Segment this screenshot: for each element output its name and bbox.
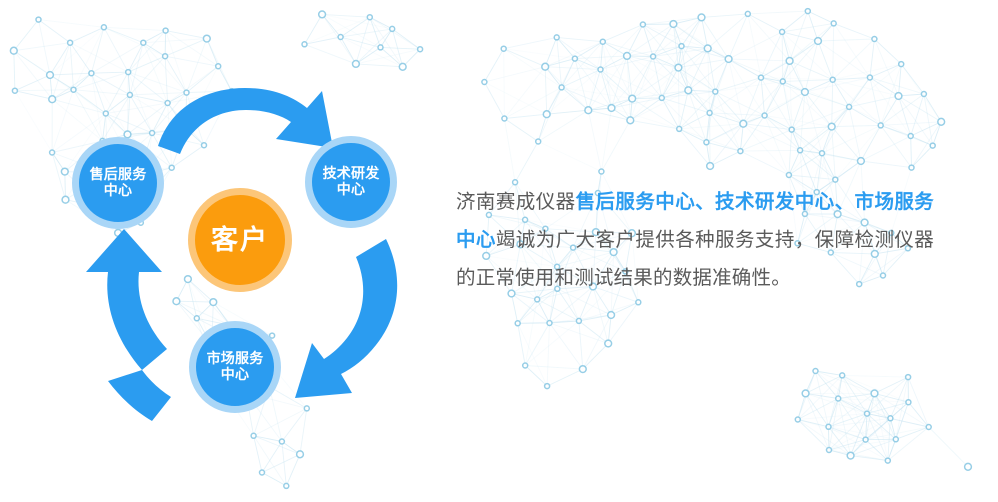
- node-rnd-label-line2: 中心: [337, 182, 365, 198]
- node-market-label-line1: 市场服务: [207, 351, 264, 367]
- node-market-center[interactable]: 市场服务 中心: [189, 321, 281, 413]
- node-after-sales-label-line2: 中心: [104, 183, 132, 199]
- node-customer-label: 客户: [211, 225, 269, 256]
- copy-segment-2: 竭诚为广大客户提供各种服务支持，保障检测仪器的正常使用和测试结果的数据准确性。: [456, 229, 934, 289]
- node-after-sales-center[interactable]: 售后服务 中心: [72, 137, 164, 229]
- node-after-sales-label-line1: 售后服务: [90, 167, 147, 183]
- node-rnd-center[interactable]: 技术研发 中心: [305, 136, 397, 228]
- banner-stage: 售后服务 中心 技术研发 中心 市场服务 中心 客户 济南赛成仪器售后服务中心、…: [0, 0, 998, 502]
- copy-segment-0: 济南赛成仪器: [456, 191, 576, 213]
- node-rnd-label-line1: 技术研发: [323, 166, 380, 182]
- description-paragraph: 济南赛成仪器售后服务中心、技术研发中心、市场服务中心竭诚为广大客户提供各种服务支…: [456, 183, 934, 297]
- node-market-label-line2: 中心: [221, 367, 249, 383]
- node-customer-center[interactable]: 客户: [188, 188, 292, 292]
